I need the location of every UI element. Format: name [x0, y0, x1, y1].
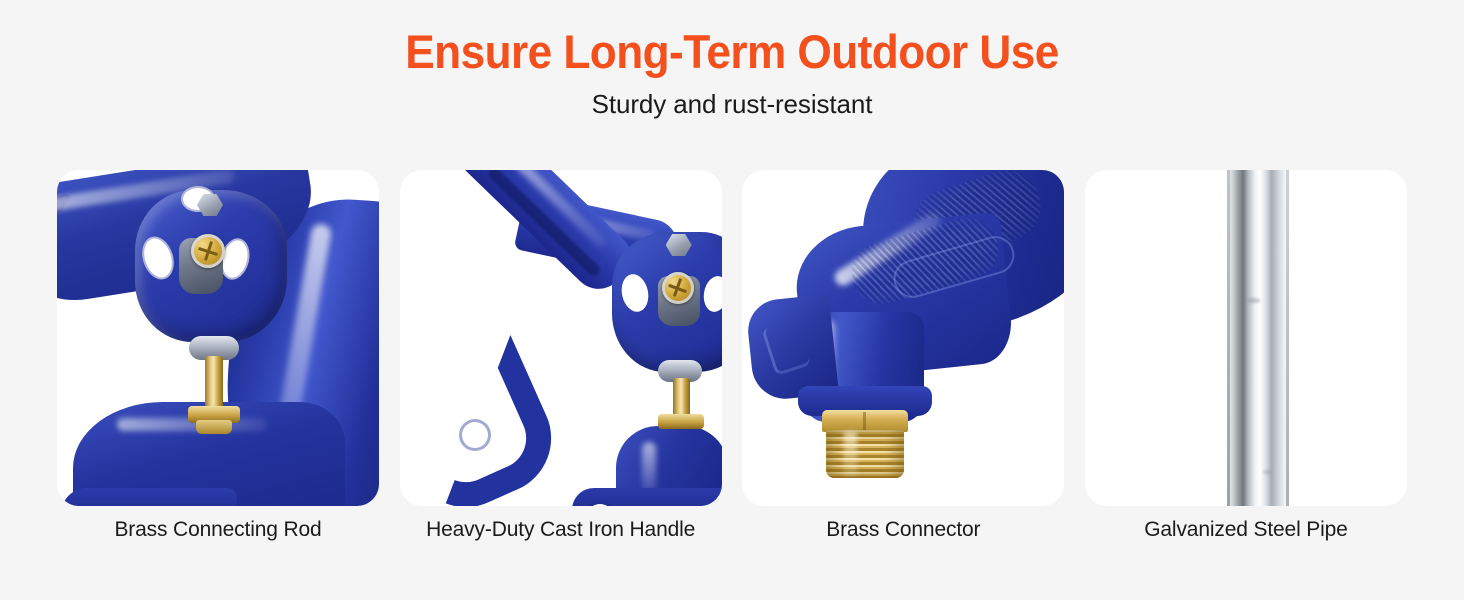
faucet-foot-shape [61, 488, 237, 506]
banner-header: Ensure Long-Term Outdoor Use Sturdy and … [0, 0, 1464, 118]
cast-iron-lever-handle-photo [400, 170, 722, 506]
page-subtitle: Sturdy and rust-resistant [0, 77, 1464, 119]
feature-caption-1: Brass Connecting Rod [57, 516, 379, 544]
feature-panel-row [57, 170, 1407, 506]
brass-rod-nut-shape [196, 420, 232, 434]
valve-base-shape [572, 488, 722, 506]
steel-pipe-right-edge [1286, 170, 1289, 506]
steel-pipe-left-edge [1227, 170, 1230, 506]
page-title: Ensure Long-Term Outdoor Use [44, 0, 1420, 77]
steel-pipe-shape [1227, 170, 1289, 506]
feature-panel-4 [1085, 170, 1407, 506]
steel-pipe-speck-upper [1248, 298, 1260, 303]
faucet-arm-hook-shape [57, 192, 101, 329]
handwheel-group [135, 190, 287, 342]
brass-hex-collar-shape [822, 410, 908, 432]
feature-caption-3: Brass Connector [742, 516, 1064, 544]
feature-panel-2 [400, 170, 722, 506]
valve-handwheel-brass-rod-photo [57, 170, 379, 506]
product-feature-banner: Ensure Long-Term Outdoor Use Sturdy and … [0, 0, 1464, 600]
brass-threaded-nipple-shape [826, 430, 904, 478]
feature-caption-row: Brass Connecting Rod Heavy-Duty Cast Iro… [57, 516, 1407, 544]
feature-panel-3 [742, 170, 1064, 506]
brass-connector-group [820, 410, 910, 478]
feature-caption-4: Galvanized Steel Pipe [1085, 516, 1407, 544]
steel-pipe-speck-lower [1263, 470, 1272, 474]
handwheel-group [612, 232, 722, 372]
brass-rod-flange-shape [658, 414, 704, 429]
galvanized-steel-pipe-photo [1085, 170, 1407, 506]
brass-phillips-screw-shape [662, 272, 694, 304]
brass-phillips-screw-shape [191, 234, 225, 268]
feature-caption-2: Heavy-Duty Cast Iron Handle [400, 516, 722, 544]
feature-panel-1 [57, 170, 379, 506]
spout-brass-threaded-connector-photo [742, 170, 1064, 506]
lever-hook-eyelet-shape [462, 422, 488, 448]
